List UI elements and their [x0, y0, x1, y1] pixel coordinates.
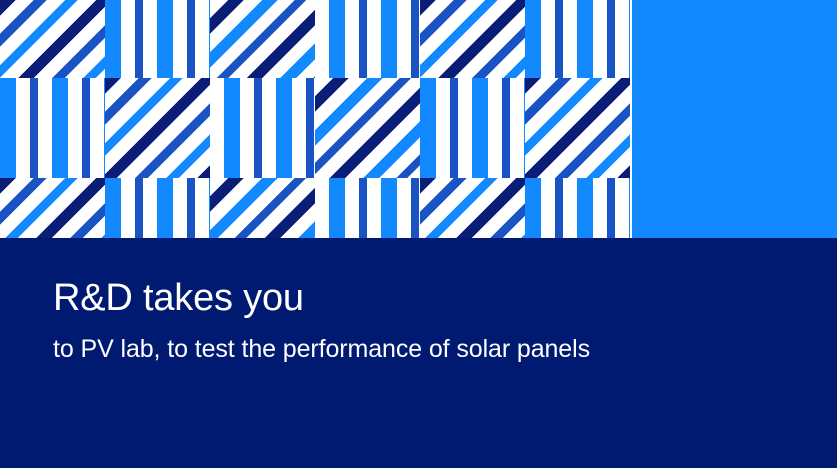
pattern-tile-vertical: [105, 0, 210, 78]
pattern-tile-vertical: [525, 0, 630, 78]
pattern-tile-vertical: [105, 178, 210, 238]
headline: R&D takes you: [53, 276, 793, 320]
slide-canvas: R&D takes you to PV lab, to test the per…: [0, 0, 837, 468]
pattern-tile-vertical: [315, 178, 420, 238]
pattern-row-bottom: [0, 178, 632, 238]
pattern-tile-vertical: [420, 78, 525, 178]
banner-pattern-region: [0, 0, 632, 238]
pattern-tile-vertical: [525, 178, 630, 238]
pattern-row-middle: [0, 78, 632, 178]
solid-blue-panel: [632, 0, 837, 238]
slide-text-block: R&D takes you to PV lab, to test the per…: [53, 276, 793, 364]
pattern-tile-vertical: [210, 78, 315, 178]
pattern-tile-diagonal: [315, 78, 420, 178]
pattern-tile-diagonal: [210, 0, 315, 78]
pattern-tile-diagonal: [0, 178, 105, 238]
pattern-tile-diagonal: [420, 178, 525, 238]
pattern-tile-vertical: [315, 0, 420, 78]
pattern-tile-diagonal: [0, 0, 105, 78]
pattern-tile-diagonal: [210, 178, 315, 238]
subtitle: to PV lab, to test the performance of so…: [53, 334, 793, 364]
pattern-tile-vertical: [0, 78, 105, 178]
pattern-tile-diagonal: [420, 0, 525, 78]
pattern-tile-diagonal: [105, 78, 210, 178]
decorative-striped-banner: [0, 0, 837, 238]
pattern-tile-diagonal: [525, 78, 630, 178]
pattern-row-top: [0, 0, 632, 78]
